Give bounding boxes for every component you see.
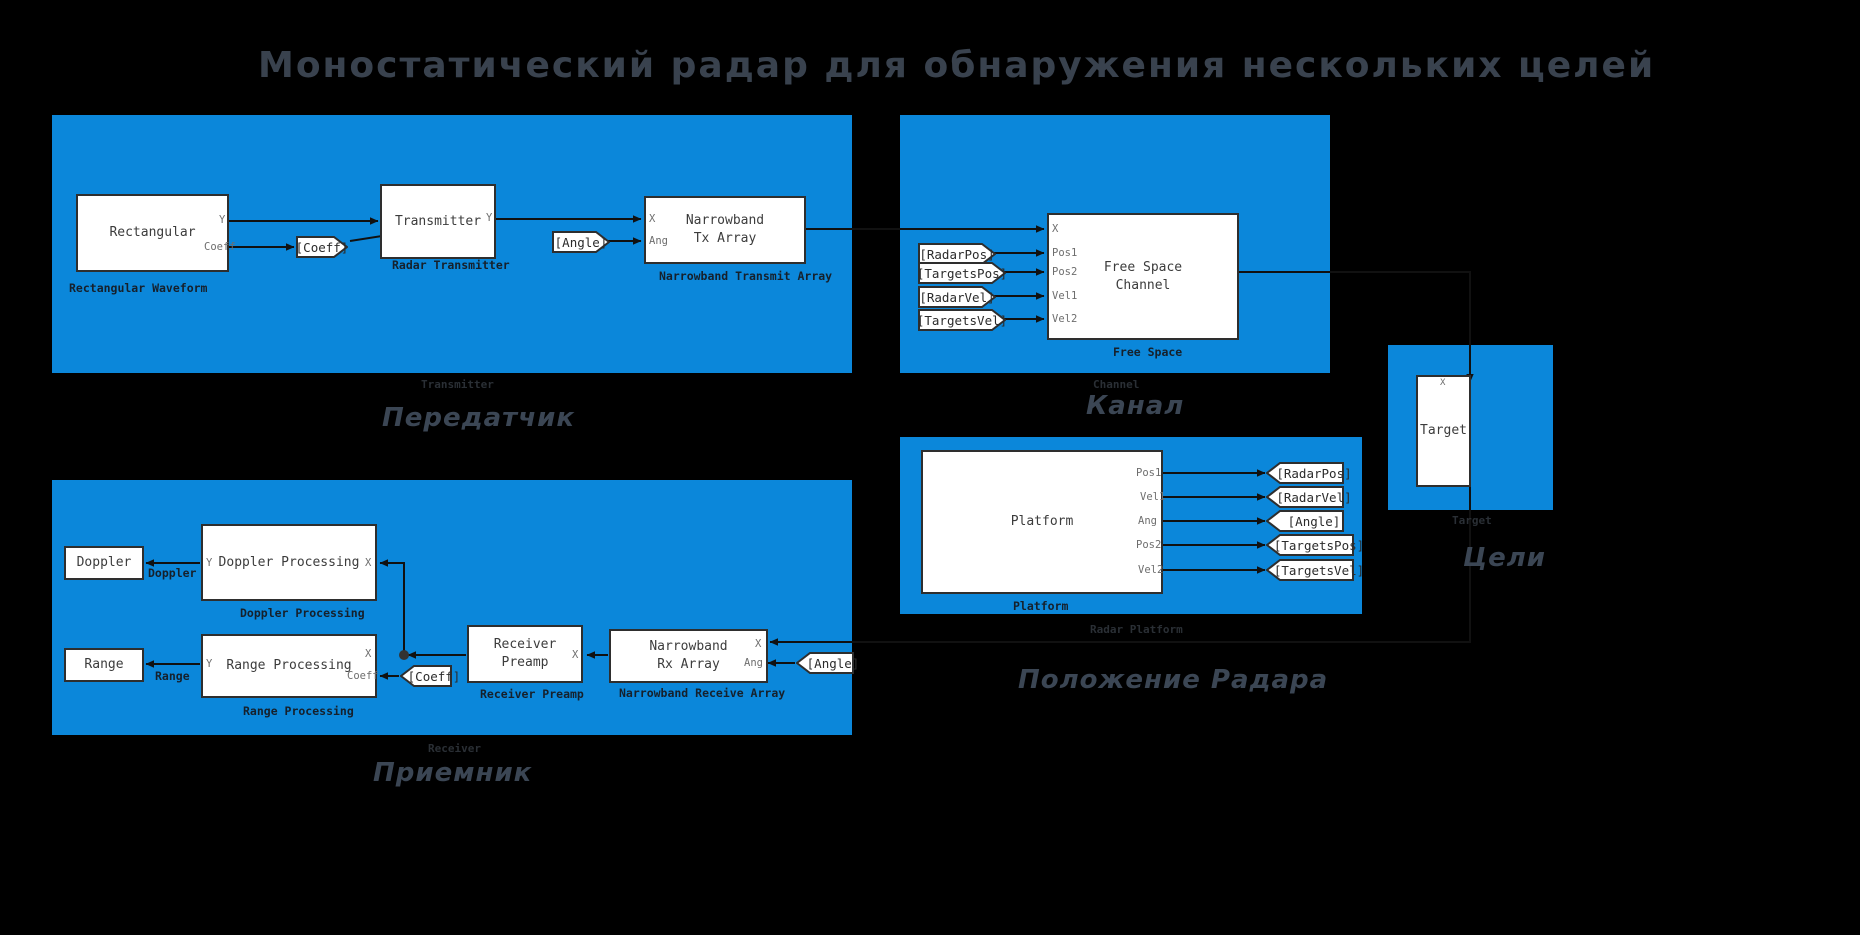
port-label-freespace-x: X <box>1052 223 1058 235</box>
tag-label: [Coeff] <box>400 665 460 687</box>
block-title: Free Space Channel <box>1104 259 1182 294</box>
block-title: Range Processing <box>226 657 351 675</box>
tag-label: [RadarVel] <box>1266 486 1353 508</box>
subsystem-label-channel: Channel <box>1093 378 1139 391</box>
tag-label: [Angle] <box>796 652 862 674</box>
tag-targetspos-from[interactable]: [TargetsPos] <box>918 262 1006 284</box>
block-title: Doppler <box>77 554 132 572</box>
block-receiver-preamp[interactable]: Receiver Preamp <box>467 625 583 683</box>
diagram-canvas: Моностатический радар для обнаружения не… <box>0 0 1860 935</box>
block-rectangular[interactable]: Rectangular <box>76 194 229 272</box>
block-title: Doppler Processing <box>219 554 360 572</box>
port-label-platform-pos2: Pos2 <box>1136 539 1161 551</box>
wire-label-range: Range <box>155 669 190 683</box>
tag-angle-from-rx[interactable]: [Angle] <box>796 652 854 674</box>
tag-radarvel-from[interactable]: [RadarVel] <box>918 286 996 308</box>
port-label-range-coeff: Coeff <box>347 670 379 682</box>
tag-targetsvel-goto[interactable]: [TargetsVel] <box>1266 559 1354 581</box>
tag-coeff-goto[interactable]: [Coeff] <box>296 236 348 258</box>
block-title: Narrowband Tx Array <box>686 212 764 247</box>
port-label-rxarray-x: X <box>755 638 761 650</box>
tag-label: [RadarPos] <box>1266 462 1353 484</box>
port-label-platform-ang: Ang <box>1138 515 1157 527</box>
tag-label: [Angle] <box>552 231 618 253</box>
port-label-rectangular-y: Y <box>219 214 225 226</box>
block-rx-array[interactable]: Narrowband Rx Array <box>609 629 768 683</box>
block-tx-array[interactable]: Narrowband Tx Array <box>644 196 806 264</box>
block-title: Rectangular <box>109 224 195 242</box>
port-label-doppler-x: X <box>365 557 371 569</box>
block-title: Narrowband Rx Array <box>649 638 727 673</box>
block-title: Platform <box>1011 513 1074 531</box>
port-label-freespace-vel2: Vel2 <box>1052 313 1077 325</box>
block-title: Target <box>1420 422 1467 440</box>
wire-label-doppler: Doppler <box>148 566 196 580</box>
block-title: Receiver Preamp <box>494 636 557 671</box>
subsystem-label-receiver: Receiver <box>428 742 481 755</box>
block-range-sink[interactable]: Range <box>64 648 144 682</box>
port-label-txarray-x: X <box>649 213 655 225</box>
page-title: Моностатический радар для обнаружения не… <box>258 45 1655 86</box>
subsystem-label-transmitter: Transmitter <box>421 378 494 391</box>
block-target[interactable]: Target <box>1416 375 1471 487</box>
port-label-preamp-x: X <box>572 649 578 661</box>
port-label-transmitter-y: Y <box>486 212 492 224</box>
tag-targetspos-goto[interactable]: [TargetsPos] <box>1266 534 1354 556</box>
tag-coeff-from-range[interactable]: [Coeff] <box>400 665 452 687</box>
port-label-platform-vel1: Vel1 <box>1140 491 1165 503</box>
port-label-range-y: Y <box>206 658 212 670</box>
port-label-range-x: X <box>365 648 371 660</box>
annotation-receiver: Приемник <box>373 758 532 788</box>
port-label-rxarray-ang: Ang <box>744 657 763 669</box>
tag-label: [Angle] <box>1266 510 1353 532</box>
tag-targetsvel-from[interactable]: [TargetsVel] <box>918 309 1006 331</box>
port-label-freespace-vel1: Vel1 <box>1052 290 1077 302</box>
block-radar-transmitter[interactable]: Transmitter <box>380 184 496 259</box>
subsystem-label-platform: Radar Platform <box>1090 623 1183 636</box>
tag-label: [RadarVel] <box>918 286 1005 308</box>
block-title: Transmitter <box>395 213 481 231</box>
tag-angle-from-tx[interactable]: [Angle] <box>552 231 610 253</box>
annotation-transmitter: Передатчик <box>382 403 575 433</box>
port-label-freespace-pos1: Pos1 <box>1052 247 1077 259</box>
block-caption-platform: Platform <box>1013 599 1068 613</box>
block-caption-receiver-preamp: Receiver Preamp <box>480 687 584 701</box>
port-label-txarray-ang: Ang <box>649 235 668 247</box>
tag-label: [TargetsVel] <box>918 309 1015 331</box>
annotation-target: Цели <box>1463 543 1546 573</box>
subsystem-label-target: Target <box>1452 514 1492 527</box>
block-caption-range-processing: Range Processing <box>243 704 354 718</box>
block-doppler-sink[interactable]: Doppler <box>64 546 144 580</box>
annotation-channel: Канал <box>1086 391 1184 421</box>
block-caption-radar-transmitter: Radar Transmitter <box>392 258 510 272</box>
tag-label: [TargetsVel] <box>1266 559 1363 581</box>
block-caption-rx-array: Narrowband Receive Array <box>619 686 785 700</box>
block-doppler-processing[interactable]: Doppler Processing <box>201 524 377 601</box>
tag-label: [TargetsPos] <box>918 262 1015 284</box>
block-caption-free-space: Free Space <box>1113 345 1182 359</box>
tag-angle-goto[interactable]: [Angle] <box>1266 510 1344 532</box>
port-label-rectangular-coeff: Coeff <box>204 241 236 253</box>
annotation-platform: Положение Радара <box>1018 665 1328 695</box>
block-caption-doppler-processing: Doppler Processing <box>240 606 365 620</box>
port-label-freespace-pos2: Pos2 <box>1052 266 1077 278</box>
tag-label: [TargetsPos] <box>1266 534 1363 556</box>
port-label-target-x: X <box>1440 378 1445 388</box>
block-range-processing[interactable]: Range Processing <box>201 634 377 698</box>
tag-radarpos-goto[interactable]: [RadarPos] <box>1266 462 1344 484</box>
block-caption-tx-array: Narrowband Transmit Array <box>659 269 832 283</box>
tag-radarvel-goto[interactable]: [RadarVel] <box>1266 486 1344 508</box>
block-title: Range <box>84 656 123 674</box>
port-label-doppler-y: Y <box>206 557 212 569</box>
block-platform[interactable]: Platform <box>921 450 1163 594</box>
block-caption-rectangular: Rectangular Waveform <box>69 281 207 295</box>
tag-label: [Coeff] <box>296 236 356 258</box>
port-label-platform-vel2: Vel2 <box>1138 564 1163 576</box>
port-label-platform-pos1: Pos1 <box>1136 467 1161 479</box>
